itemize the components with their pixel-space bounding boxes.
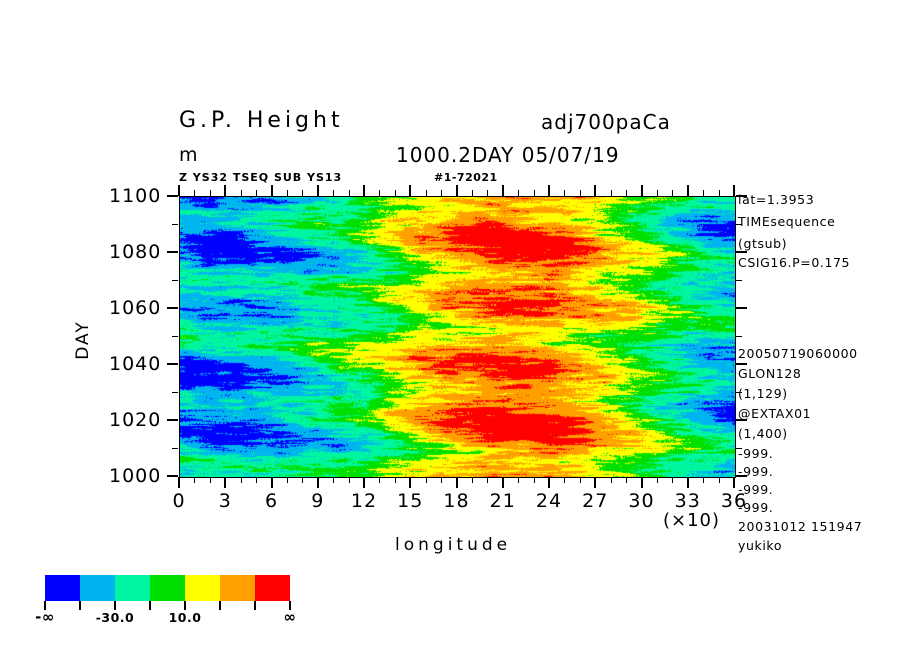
meta-line: Z YS32 TSEQ SUB YS13: [179, 171, 342, 184]
x-tick-label: 3: [219, 490, 232, 512]
x-major-tick: [178, 185, 180, 196]
y-major-tick: [167, 475, 178, 477]
x-minor-tick: [703, 477, 704, 483]
y-tick-label: 1060: [109, 297, 161, 319]
x-major-tick: [548, 477, 550, 488]
colorbar-label: 10.0: [169, 610, 202, 625]
x-minor-tick: [580, 190, 581, 196]
side-annotation: 20031012 151947: [738, 519, 862, 534]
y-tick-label: 1080: [109, 241, 161, 263]
x-tick-label: 6: [265, 490, 278, 512]
y-minor-tick: [172, 392, 178, 393]
y-minor-tick: [172, 336, 178, 337]
side-annotation: (1,400): [738, 426, 788, 441]
x-minor-tick: [379, 477, 380, 483]
x-axis-title: longitude: [395, 535, 511, 555]
colorbar-tick: [219, 601, 221, 610]
side-annotation: (1,129): [738, 386, 788, 401]
x-minor-tick: [487, 477, 488, 483]
x-minor-tick: [333, 190, 334, 196]
colorbar-band: [185, 575, 220, 601]
y-minor-tick: [172, 448, 178, 449]
x-major-tick: [594, 185, 596, 196]
x-minor-tick: [518, 190, 519, 196]
x-minor-tick: [379, 190, 380, 196]
x-major-tick: [224, 477, 226, 488]
y-minor-tick: [736, 280, 742, 281]
colorbar-tick: [149, 601, 151, 610]
side-annotation: -999.: [738, 500, 773, 515]
colorbar-tick: [184, 601, 186, 610]
x-minor-tick: [287, 477, 288, 483]
units-label: m: [179, 144, 200, 166]
colorbar: [45, 575, 290, 601]
x-tick-label: 18: [443, 490, 469, 512]
x-major-tick: [733, 477, 735, 488]
colorbar-label: ∞: [284, 608, 297, 626]
x-major-tick: [363, 185, 365, 196]
colorbar-band: [80, 575, 115, 601]
x-major-tick: [317, 185, 319, 196]
x-major-tick: [317, 477, 319, 488]
y-major-tick: [167, 195, 178, 197]
x-minor-tick: [534, 477, 535, 483]
x-minor-tick: [672, 190, 673, 196]
plot-area: [179, 196, 736, 478]
page-title: G.P. Height: [179, 108, 344, 133]
x-major-tick: [687, 185, 689, 196]
x-minor-tick: [487, 190, 488, 196]
x-minor-tick: [426, 190, 427, 196]
side-annotation: @EXTAX01: [738, 406, 811, 421]
y-major-tick: [167, 363, 178, 365]
y-major-tick: [736, 363, 747, 365]
x-minor-tick: [611, 477, 612, 483]
variable-tag: adj700paCa: [541, 110, 671, 134]
x-minor-tick: [302, 477, 303, 483]
y-minor-tick: [172, 280, 178, 281]
x-major-tick: [224, 185, 226, 196]
y-minor-tick: [172, 224, 178, 225]
x-minor-tick: [210, 190, 211, 196]
x-major-tick: [687, 477, 689, 488]
heatmap-canvas: [180, 197, 735, 477]
x-minor-tick: [518, 477, 519, 483]
x-minor-tick: [564, 477, 565, 483]
x-minor-tick: [241, 190, 242, 196]
x-tick-label: 30: [628, 490, 654, 512]
x-minor-tick: [210, 477, 211, 483]
x-minor-tick: [564, 190, 565, 196]
x-major-tick: [456, 185, 458, 196]
y-major-tick: [167, 419, 178, 421]
time-label: 1000.2DAY 05/07/19: [396, 143, 620, 167]
colorbar-tick: [79, 601, 81, 610]
x-minor-tick: [657, 190, 658, 196]
side-annotation: TIMEsequence: [738, 214, 835, 229]
colorbar-band: [45, 575, 80, 601]
x-tick-label: 0: [172, 490, 185, 512]
x-minor-tick: [611, 190, 612, 196]
x-minor-tick: [703, 190, 704, 196]
x-minor-tick: [194, 477, 195, 483]
x-minor-tick: [719, 190, 720, 196]
x-minor-tick: [395, 190, 396, 196]
x-minor-tick: [580, 477, 581, 483]
x-major-tick: [271, 185, 273, 196]
x-minor-tick: [302, 190, 303, 196]
x-minor-tick: [194, 190, 195, 196]
x-tick-label: 24: [536, 490, 562, 512]
x-minor-tick: [333, 477, 334, 483]
x-major-tick: [178, 477, 180, 488]
colorbar-label: -∞: [35, 608, 55, 626]
y-tick-label: 1020: [109, 409, 161, 431]
side-annotation: (gtsub): [738, 236, 787, 251]
x-minor-tick: [349, 477, 350, 483]
y-tick-label: 1000: [109, 465, 161, 487]
x-major-tick: [363, 477, 365, 488]
x-minor-tick: [349, 190, 350, 196]
y-major-tick: [167, 307, 178, 309]
y-tick-label: 1040: [109, 353, 161, 375]
x-tick-label: 33: [675, 490, 701, 512]
x-minor-tick: [719, 477, 720, 483]
x-major-tick: [641, 185, 643, 196]
meta-id: #1-72021: [434, 171, 498, 184]
x-minor-tick: [534, 190, 535, 196]
x-minor-tick: [256, 477, 257, 483]
x-major-tick: [502, 185, 504, 196]
x-tick-label: 21: [490, 490, 516, 512]
y-tick-label: 1100: [109, 185, 161, 207]
x-major-tick: [548, 185, 550, 196]
side-annotation: -999.: [738, 464, 773, 479]
x-minor-tick: [441, 190, 442, 196]
colorbar-bands: [45, 575, 290, 601]
colorbar-band: [150, 575, 185, 601]
x-tick-label: 27: [582, 490, 608, 512]
x-minor-tick: [256, 190, 257, 196]
x-major-tick: [409, 185, 411, 196]
colorbar-band: [255, 575, 290, 601]
x-tick-label: 9: [311, 490, 324, 512]
side-annotation: CSIG16.P=0.175: [738, 255, 850, 270]
x-major-tick: [733, 185, 735, 196]
side-annotation: 20050719060000: [738, 346, 858, 361]
y-axis-title: DAY: [73, 320, 93, 360]
colorbar-tick: [254, 601, 256, 610]
colorbar-tick: [114, 601, 116, 610]
x-major-tick: [271, 477, 273, 488]
colorbar-band: [115, 575, 150, 601]
x-axis-multiplier: (×10): [663, 510, 720, 531]
x-tick-label: 15: [397, 490, 423, 512]
y-minor-tick: [736, 336, 742, 337]
side-annotation: -999.: [738, 482, 773, 497]
y-major-tick: [167, 251, 178, 253]
colorbar-band: [220, 575, 255, 601]
x-minor-tick: [672, 477, 673, 483]
x-minor-tick: [241, 477, 242, 483]
colorbar-label: -30.0: [96, 610, 135, 625]
x-minor-tick: [657, 477, 658, 483]
y-major-tick: [736, 307, 747, 309]
x-major-tick: [502, 477, 504, 488]
x-minor-tick: [441, 477, 442, 483]
side-annotation: yukiko: [738, 538, 782, 553]
side-annotation: -999.: [738, 446, 773, 461]
x-major-tick: [456, 477, 458, 488]
x-minor-tick: [395, 477, 396, 483]
x-minor-tick: [287, 190, 288, 196]
x-major-tick: [641, 477, 643, 488]
x-minor-tick: [626, 190, 627, 196]
x-minor-tick: [626, 477, 627, 483]
x-major-tick: [409, 477, 411, 488]
x-minor-tick: [472, 190, 473, 196]
x-major-tick: [594, 477, 596, 488]
x-minor-tick: [472, 477, 473, 483]
side-annotation: lat=1.3953: [738, 192, 814, 207]
x-minor-tick: [426, 477, 427, 483]
side-annotation: GLON128: [738, 366, 801, 381]
y-major-tick: [736, 251, 747, 253]
x-tick-label: 12: [351, 490, 377, 512]
